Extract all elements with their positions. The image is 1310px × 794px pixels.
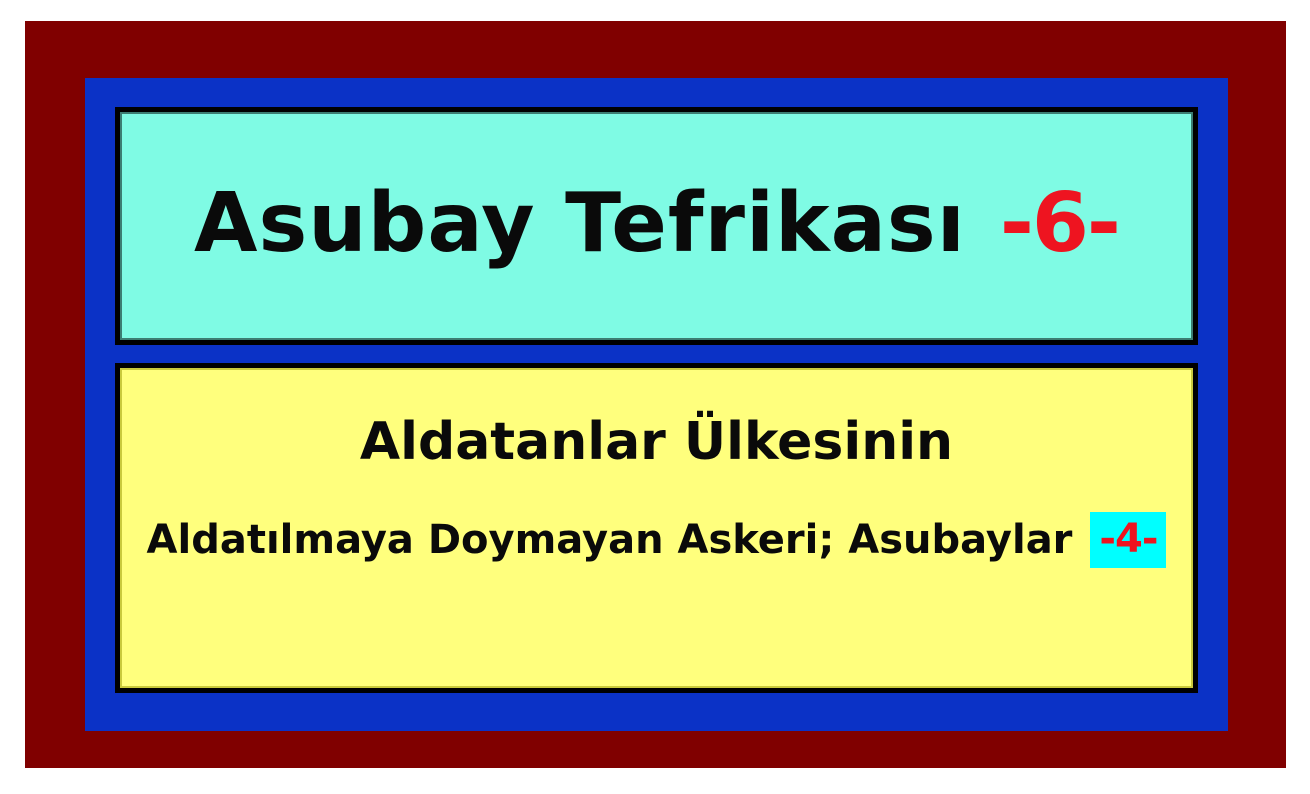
body-heading: Aldatanlar Ülkesinin <box>360 416 953 468</box>
issue-number-badge: -6- <box>1000 176 1119 271</box>
part-number-badge: -4- <box>1090 512 1166 568</box>
slide-title-text: Asubay Tefrikası <box>194 176 966 271</box>
blue-frame: Asubay Tefrikası-6- Aldatanlar Ülkesinin… <box>85 78 1228 731</box>
body-subline: Aldatılmaya Doymayan Askeri; Asubaylar -… <box>147 512 1167 568</box>
body-panel-inner: Aldatanlar Ülkesinin Aldatılmaya Doymaya… <box>120 368 1193 688</box>
slide-stage: Asubay Tefrikası-6- Aldatanlar Ülkesinin… <box>0 0 1310 794</box>
title-panel-inner: Asubay Tefrikası-6- <box>120 112 1193 340</box>
maroon-background-plate: Asubay Tefrikası-6- Aldatanlar Ülkesinin… <box>25 21 1286 768</box>
slide-title: Asubay Tefrikası-6- <box>194 183 1119 269</box>
title-panel: Asubay Tefrikası-6- <box>115 107 1198 345</box>
body-subline-text: Aldatılmaya Doymayan Askeri; Asubaylar <box>147 520 1073 560</box>
body-panel: Aldatanlar Ülkesinin Aldatılmaya Doymaya… <box>115 363 1198 693</box>
